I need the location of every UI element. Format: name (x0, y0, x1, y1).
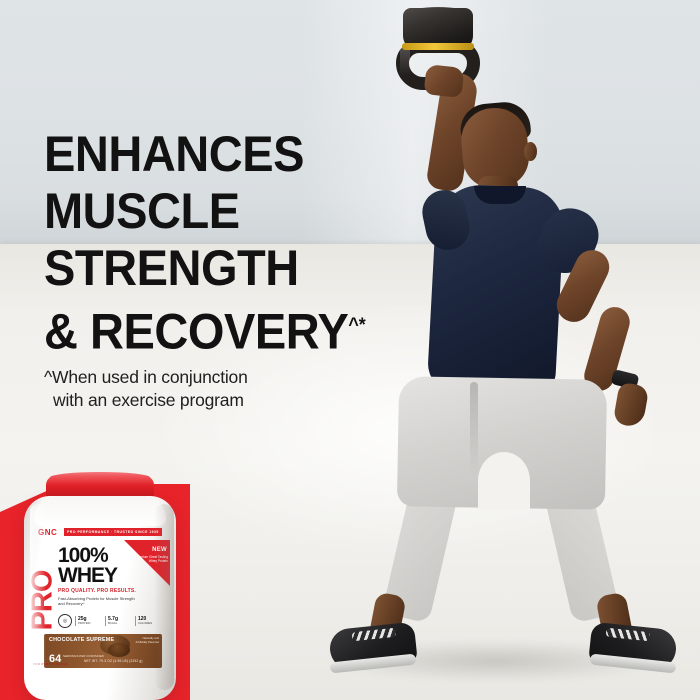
certification-badge-icon: ◎ (58, 614, 72, 628)
headline: ENHANCES MUSCLE STRENGTH & RECOVERY^* (44, 126, 444, 361)
stat-protein-label: PROTEIN (78, 622, 102, 625)
stat-bcaa: 5.7g BCAAs (105, 616, 132, 625)
gripping-fist (424, 64, 465, 98)
container-shading (154, 504, 174, 690)
headline-line-4: & RECOVERY^* (44, 297, 420, 361)
label-tagline: PRO QUALITY. PRO RESULTS. (58, 588, 136, 594)
disclaimer-line-2: with an exercise program (53, 389, 374, 412)
right-hand (613, 382, 650, 429)
label-stats-row: ◎ 25g PROTEIN 5.7g BCAAs 120 CALORIES (58, 614, 162, 628)
container-shoulder (34, 496, 166, 526)
label-banner-strip: PRO PERFORMANCE · TRUSTED SINCE 1935 (64, 528, 162, 536)
disclaimer: ^When used in conjunction with an exerci… (44, 366, 374, 412)
product-label: GNC PRO PERFORMANCE · TRUSTED SINCE 1935… (30, 526, 170, 674)
kettlebell-handle-highlight (400, 46, 410, 76)
headline-line-3: STRENGTH (44, 240, 420, 297)
chocolate-scoop-icon-2 (108, 643, 130, 657)
headline-line-4-text: & RECOVERY (44, 304, 348, 360)
headline-line-1: ENHANCES (44, 126, 420, 183)
headline-line-2: MUSCLE (44, 183, 420, 240)
disclaimer-line-1: ^When used in conjunction (44, 367, 248, 387)
advertisement-stage: ENHANCES MUSCLE STRENGTH & RECOVERY^* ^W… (0, 0, 700, 700)
shorts-fold (470, 382, 478, 474)
kettlebell-weight-band (402, 43, 474, 50)
net-weight: NET WT. 79.3 OZ (4.96 LB) (2252 g) (84, 659, 143, 663)
container-highlight (30, 504, 46, 684)
shorts-hem-gap (478, 452, 530, 510)
label-subtext: Fast-Absorbing Protein for Muscle Streng… (58, 596, 136, 606)
flavor-name: CHOCOLATE SUPREME (49, 637, 114, 643)
headline-superscript: ^* (348, 315, 365, 336)
label-banner-text: PRO PERFORMANCE · TRUSTED SINCE 1935 (64, 528, 162, 536)
stat-bcaa-label: BCAAs (108, 622, 132, 625)
product-container[interactable]: GNC PRO PERFORMANCE · TRUSTED SINCE 1935… (8, 470, 184, 700)
label-whey: WHEY (58, 564, 117, 588)
athlete-ear (524, 142, 537, 161)
stat-protein: 25g PROTEIN (75, 616, 102, 625)
